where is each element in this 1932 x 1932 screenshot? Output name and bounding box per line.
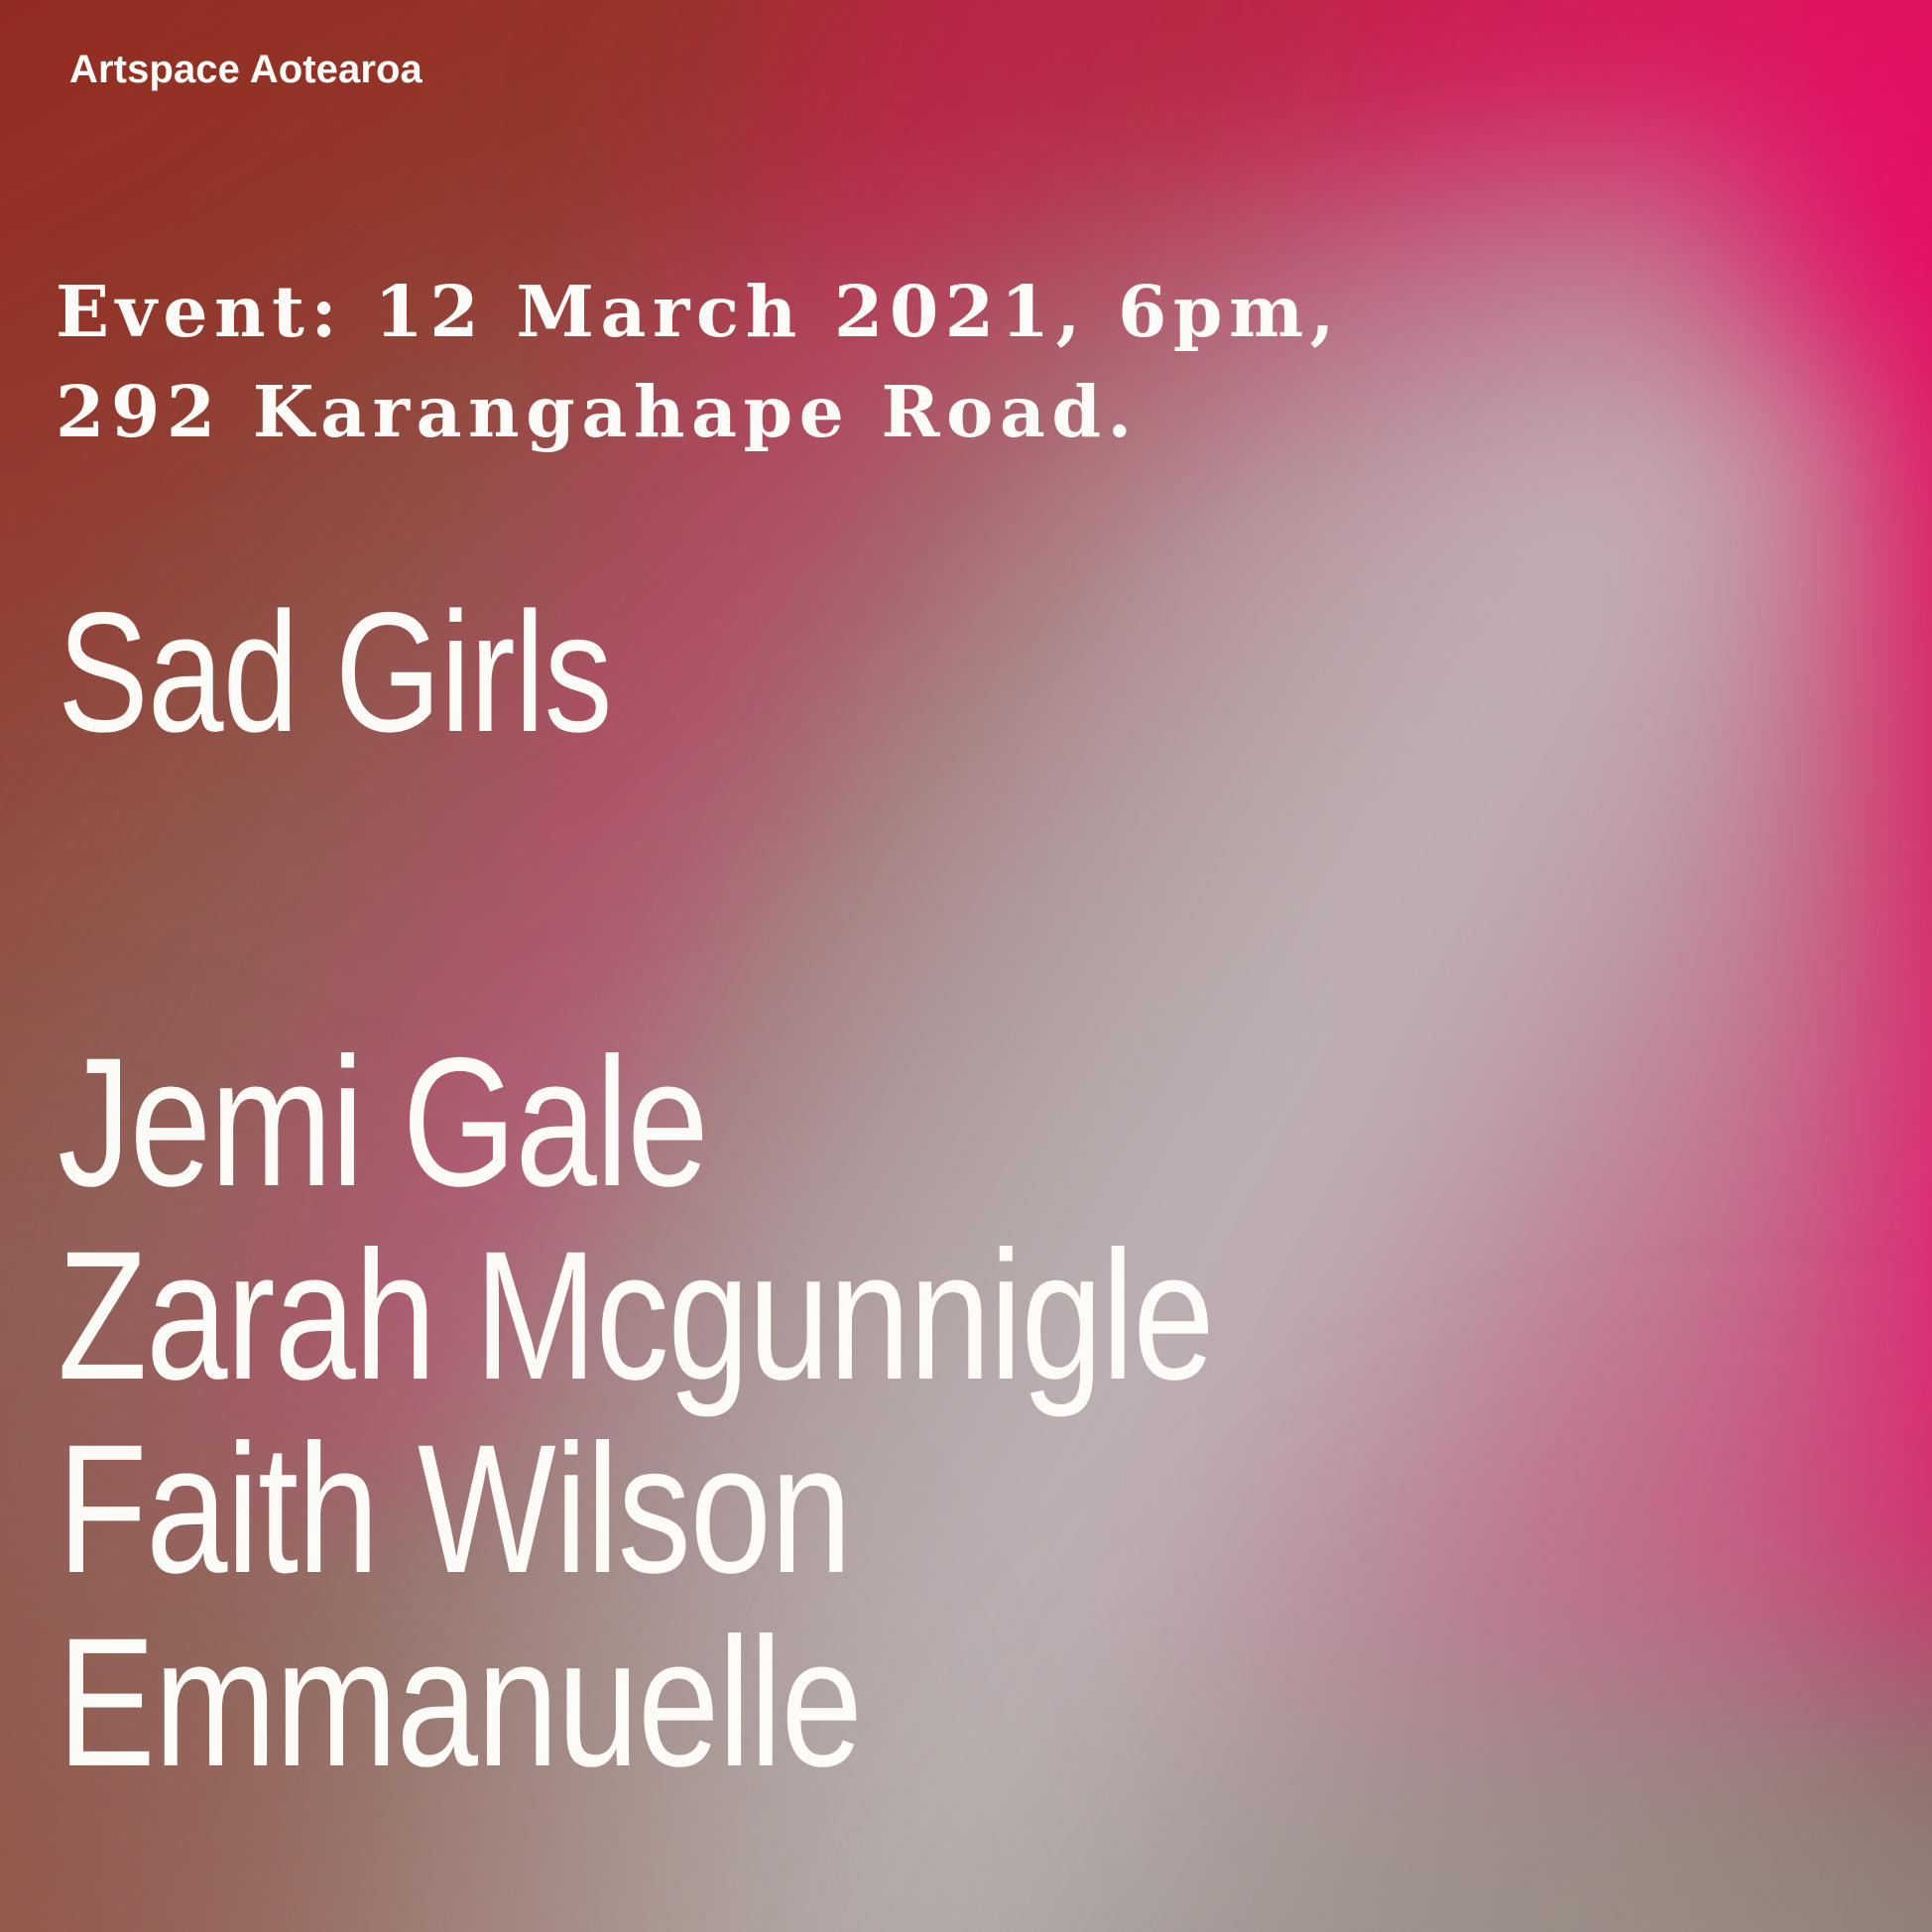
poster-canvas: Artspace Aotearoa Event: 12 March 2021, … — [0, 0, 1932, 1932]
poster-content: Artspace Aotearoa Event: 12 March 2021, … — [0, 0, 1932, 1932]
artist-name: Faith Wilson — [58, 1413, 1213, 1607]
artist-name: Emmanuelle — [58, 1607, 1213, 1800]
artist-name: Jemi Gale — [58, 1026, 1213, 1220]
event-details-line-2: 292 Karangahape Road. — [56, 362, 1341, 462]
organisation-name: Artspace Aotearoa — [69, 48, 423, 91]
event-details: Event: 12 March 2021, 6pm, 292 Karangaha… — [56, 262, 1341, 462]
exhibition-title: Sad Girls — [58, 587, 612, 758]
artist-list: Jemi Gale Zarah Mcgunnigle Faith Wilson … — [58, 1026, 1503, 1800]
event-details-line-1: Event: 12 March 2021, 6pm, — [56, 262, 1341, 362]
artist-name: Zarah Mcgunnigle — [58, 1220, 1213, 1413]
